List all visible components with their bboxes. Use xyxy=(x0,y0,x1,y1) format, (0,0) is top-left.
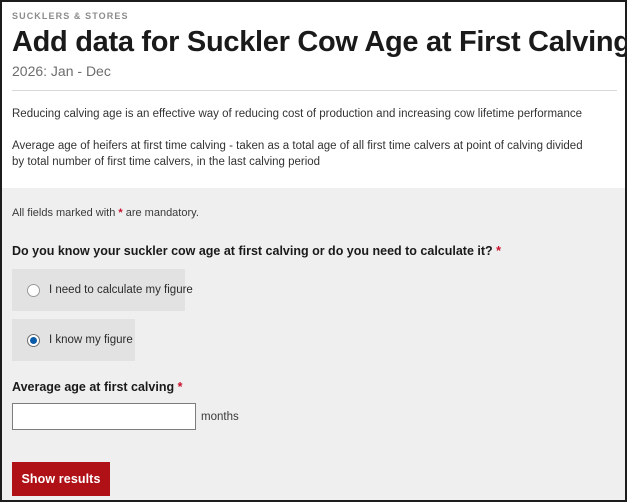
show-results-button[interactable]: Show results xyxy=(12,462,110,496)
page-container: SUCKLERS & STORES Add data for Suckler C… xyxy=(0,0,627,502)
radio-unselected-icon[interactable] xyxy=(27,284,40,297)
months-unit-label: months xyxy=(201,410,239,424)
breadcrumb-kicker: SUCKLERS & STORES xyxy=(12,10,615,22)
mandatory-note-suffix: are mandatory. xyxy=(123,207,199,219)
average-age-input-row: months xyxy=(12,403,615,430)
intro-paragraph-2: Average age of heifers at first time cal… xyxy=(12,138,592,170)
question-label-text: Do you know your suckler cow age at firs… xyxy=(12,244,493,258)
header-divider xyxy=(12,90,617,91)
page-title: Add data for Suckler Cow Age at First Ca… xyxy=(12,25,615,59)
question-required-asterisk: * xyxy=(496,244,501,258)
radio-option-calculate[interactable]: I need to calculate my figure xyxy=(12,269,185,311)
question-label: Do you know your suckler cow age at firs… xyxy=(12,243,615,259)
average-age-input[interactable] xyxy=(12,403,196,430)
radio-selected-icon[interactable] xyxy=(27,334,40,347)
form-section: All fields marked with * are mandatory. … xyxy=(2,188,625,500)
mandatory-note: All fields marked with * are mandatory. xyxy=(12,206,615,221)
page-header: SUCKLERS & STORES Add data for Suckler C… xyxy=(2,2,625,188)
intro-text-block: Reducing calving age is an effective way… xyxy=(12,106,615,170)
radio-option-know-figure[interactable]: I know my figure xyxy=(12,319,135,361)
field-required-asterisk: * xyxy=(178,380,183,394)
average-age-field-label-text: Average age at first calving xyxy=(12,380,174,394)
radio-option-calculate-label: I need to calculate my figure xyxy=(49,283,193,297)
radio-option-know-figure-label: I know my figure xyxy=(49,333,133,347)
period-subtitle: 2026: Jan - Dec xyxy=(12,61,615,81)
mandatory-note-prefix: All fields marked with xyxy=(12,207,118,219)
intro-paragraph-1: Reducing calving age is an effective way… xyxy=(12,106,592,122)
average-age-field-label: Average age at first calving * xyxy=(12,379,615,395)
